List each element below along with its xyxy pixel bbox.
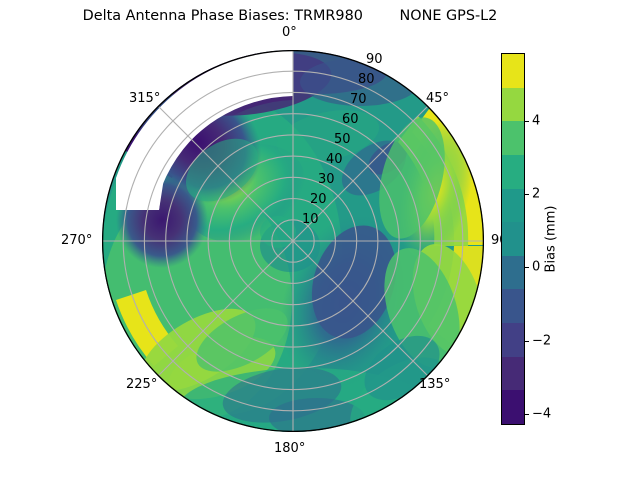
colorbar-tickmark-0 xyxy=(525,267,529,268)
colorbar-tickmark-2 xyxy=(525,194,529,195)
radial-tick-40: 40 xyxy=(326,152,343,167)
radial-tick-10: 10 xyxy=(302,212,319,227)
colorbar-segment-8 xyxy=(502,323,524,357)
angular-tick-180: 180° xyxy=(274,441,305,456)
colorbar-segment-3 xyxy=(502,155,524,189)
colorbar-ticklabel-4: 4 xyxy=(532,113,540,128)
radial-tick-50: 50 xyxy=(334,132,351,147)
colorbar-group[interactable]: 4 2 0 −2 −4 xyxy=(501,53,525,425)
colorbar-ticklabel-2: 2 xyxy=(532,187,540,202)
colorbar-segment-5 xyxy=(502,222,524,256)
angular-tick-225: 225° xyxy=(126,377,157,392)
radial-tick-30: 30 xyxy=(318,172,335,187)
colorbar-segment-0 xyxy=(502,54,524,88)
colorbar-ticklabel-minus2: −2 xyxy=(532,333,551,348)
colorbar-tickmark-m2 xyxy=(525,341,529,342)
colorbar-segment-4 xyxy=(502,189,524,223)
angular-tick-270: 270° xyxy=(61,233,92,248)
angular-tick-45: 45° xyxy=(426,91,449,106)
colorbar-axis-label: Bias (mm) xyxy=(544,206,559,273)
colorbar-tickmark-m4 xyxy=(525,414,529,415)
radial-tick-70: 70 xyxy=(350,92,367,107)
colorbar-tickmark-4 xyxy=(525,121,529,122)
radial-tick-90: 90 xyxy=(366,52,383,67)
colorbar-segment-1 xyxy=(502,88,524,122)
radial-tick-80: 80 xyxy=(358,72,375,87)
colorbar-ticklabel-0: 0 xyxy=(532,260,540,275)
colorbar-segment-6 xyxy=(502,256,524,290)
polar-axes[interactable]: 0° 45° 90 135° 180° 225° 270° 315° 10 20… xyxy=(102,50,484,432)
colorbar-segment-2 xyxy=(502,121,524,155)
angular-tick-315: 315° xyxy=(129,91,160,106)
colorbar-ticklabel-minus4: −4 xyxy=(532,407,551,422)
figure-canvas: Delta Antenna Phase Biases: TRMR980 NONE… xyxy=(0,0,640,480)
polar-plot-svg xyxy=(102,50,484,432)
colorbar-segment-7 xyxy=(502,289,524,323)
figure-title: Delta Antenna Phase Biases: TRMR980 NONE… xyxy=(0,8,580,24)
colorbar[interactable] xyxy=(501,53,525,425)
angular-gridlines xyxy=(102,50,484,432)
angular-tick-135: 135° xyxy=(419,377,450,392)
radial-tick-60: 60 xyxy=(342,112,359,127)
colorbar-segment-10 xyxy=(502,390,524,424)
angular-tick-0: 0° xyxy=(282,25,297,40)
radial-tick-20: 20 xyxy=(310,192,327,207)
colorbar-segment-9 xyxy=(502,357,524,391)
